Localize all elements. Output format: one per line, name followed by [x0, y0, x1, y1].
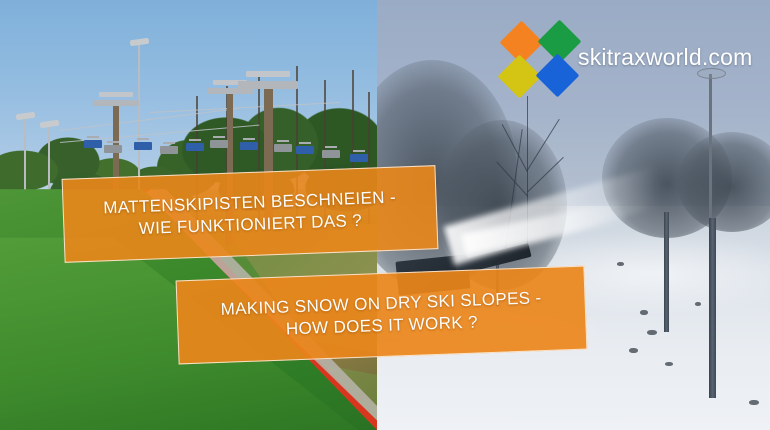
logo-diamond-blue-icon [536, 54, 580, 98]
snow-debris [695, 302, 701, 306]
lift-chair [350, 154, 368, 162]
lift-chair [240, 142, 258, 150]
lift-chair [104, 145, 122, 153]
title-card: skitraxworld.com MATTENSKIPISTEN BESCHNE… [0, 0, 770, 430]
pylon-crossarm [238, 81, 298, 89]
lift-chair [186, 143, 204, 151]
lift-chair [160, 146, 178, 154]
lift-chair [84, 140, 102, 148]
lift-chair [134, 142, 152, 150]
snow-debris [640, 310, 648, 315]
pylon-crossarm [246, 71, 290, 77]
lift-chair [296, 146, 314, 154]
snow-debris [665, 362, 673, 366]
logo-wordmark: skitraxworld.com [578, 44, 752, 71]
lift-chair [274, 144, 292, 152]
snow-debris [647, 330, 657, 335]
slope-pole [664, 212, 669, 332]
snow-debris [629, 348, 638, 353]
lift-chair [210, 140, 228, 148]
snow-debris [749, 400, 759, 405]
site-logo[interactable]: skitraxworld.com [500, 20, 760, 96]
snow-debris [617, 262, 624, 266]
title-banner-german: MATTENSKIPISTEN BESCHNEIEN - WIE FUNKTIO… [62, 165, 439, 263]
title-banner-english: MAKING SNOW ON DRY SKI SLOPES - HOW DOES… [176, 266, 588, 365]
logo-diamond-yellow-icon [498, 55, 542, 99]
lift-chair [322, 150, 340, 158]
pylon-crossarm [99, 92, 133, 97]
slope-pole [709, 218, 716, 398]
pylon-crossarm [93, 100, 139, 106]
